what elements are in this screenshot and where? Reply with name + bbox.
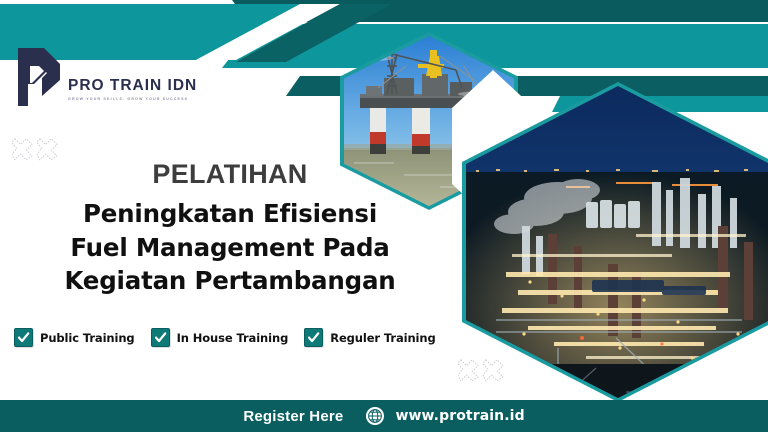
brand-wordmark: PRO TRAIN IDN GROW YOUR SKILLS. GROW YOU… [68,78,197,109]
badge-label: In House Training [177,331,289,345]
badge-label: Reguler Training [330,331,435,345]
website-link[interactable]: www.protrain.id [365,406,524,426]
badge-in-house-training[interactable]: In House Training [151,328,289,347]
title-line-3: Kegiatan Pertambangan [0,264,460,297]
brand-tagline: GROW YOUR SKILLS. GROW YOUR SUCCESS [68,97,197,101]
check-icon[interactable] [304,328,323,347]
globe-icon [365,406,385,426]
footer-bar: Register Here www.protrain.id [0,400,768,432]
badge-public-training[interactable]: Public Training [14,328,135,347]
training-flyer-poster: PRO TRAIN IDN GROW YOUR SKILLS. GROW YOU… [0,0,768,432]
pro-train-arrow-mark-icon [14,46,62,108]
check-icon[interactable] [14,328,33,347]
x-cross-pattern-icon-right [458,357,510,388]
kicker-label: PELATIHAN [0,160,460,188]
title-line-1: Peningkatan Efisiensi [0,197,460,230]
page-title: Peningkatan Efisiensi Fuel Management Pa… [0,197,460,297]
badge-label: Public Training [40,331,135,345]
brand-name: PRO TRAIN IDN [68,78,197,94]
badge-reguler-training[interactable]: Reguler Training [304,328,435,347]
website-url: www.protrain.id [395,408,524,424]
title-line-2: Fuel Management Pada [0,231,460,264]
training-type-badges: Public Training In House Training Regule… [14,328,436,347]
headline-block: PELATIHAN Peningkatan Efisiensi Fuel Man… [0,160,460,297]
register-here-label[interactable]: Register Here [243,408,343,425]
brand-logo[interactable]: PRO TRAIN IDN GROW YOUR SKILLS. GROW YOU… [14,46,197,108]
check-icon[interactable] [151,328,170,347]
